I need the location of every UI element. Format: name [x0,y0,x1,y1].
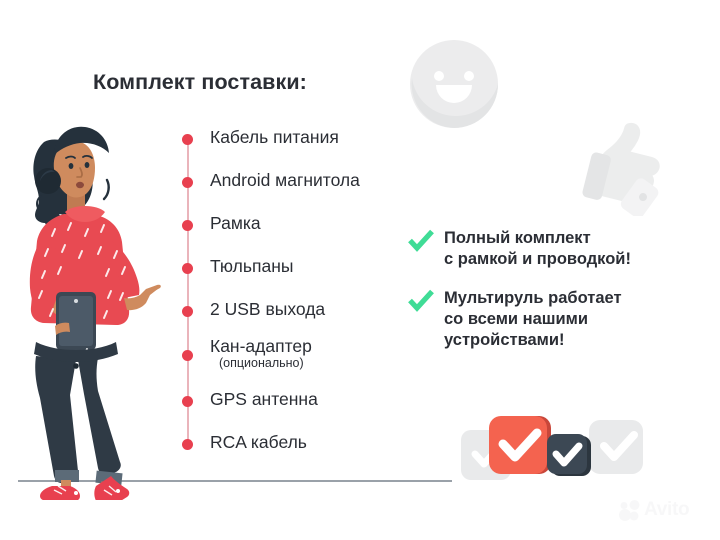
check-icon [408,229,434,253]
benefit-line: Мультируль работает [444,288,708,309]
woman-pointing-illustration [8,108,168,500]
list-item-label: Тюльпаны [210,257,293,276]
page-title: Комплект поставки: [93,70,307,95]
list-item-label: Рамка [210,214,261,233]
bullet-dot-icon [182,134,193,145]
avito-logo-icon [618,499,642,523]
smiley-face-icon [408,38,500,130]
benefit-text: Полный комплект с рамкой и проводкой! [444,228,708,270]
bullet-dot-icon [182,220,193,231]
spec-list: Кабель питания Android магнитола Рамка Т… [178,128,408,460]
list-item-label: Кан-адаптер [210,337,312,356]
avito-wordmark: Avito [644,499,689,521]
checkbox-cards-icon [459,414,645,482]
list-item-label: Android магнитола [210,171,360,190]
promo-image-canvas: Комплект поставки: Кабель питания Androi… [0,0,720,540]
benefit-line: устройствами! [444,330,708,351]
benefit-line: Полный комплект [444,228,708,249]
bullet-dot-icon [182,263,193,274]
bullet-dot-icon [182,306,193,317]
benefit-item: Мультируль работает со всеми нашими устр… [408,288,708,351]
list-item-label: Кабель питания [210,128,339,147]
benefit-text: Мультируль работает со всеми нашими устр… [444,288,708,351]
list-item-sublabel: (опционально) [219,356,304,370]
bullet-dot-icon [182,439,193,450]
list-item-label: RCA кабель [210,433,307,452]
list-item-label: GPS антенна [210,390,318,409]
thumbs-up-icon [578,116,674,216]
benefit-item: Полный комплект с рамкой и проводкой! [408,228,708,270]
check-icon [408,289,434,313]
list-item-label: 2 USB выхода [210,300,325,319]
bullet-dot-icon [182,177,193,188]
avito-watermark: Avito [618,498,710,524]
benefit-line: с рамкой и проводкой! [444,249,708,270]
benefit-line: со всеми нашими [444,309,708,330]
bullet-dot-icon [182,350,193,361]
benefits-list: Полный комплект с рамкой и проводкой! Му… [408,228,708,365]
bullet-dot-icon [182,396,193,407]
